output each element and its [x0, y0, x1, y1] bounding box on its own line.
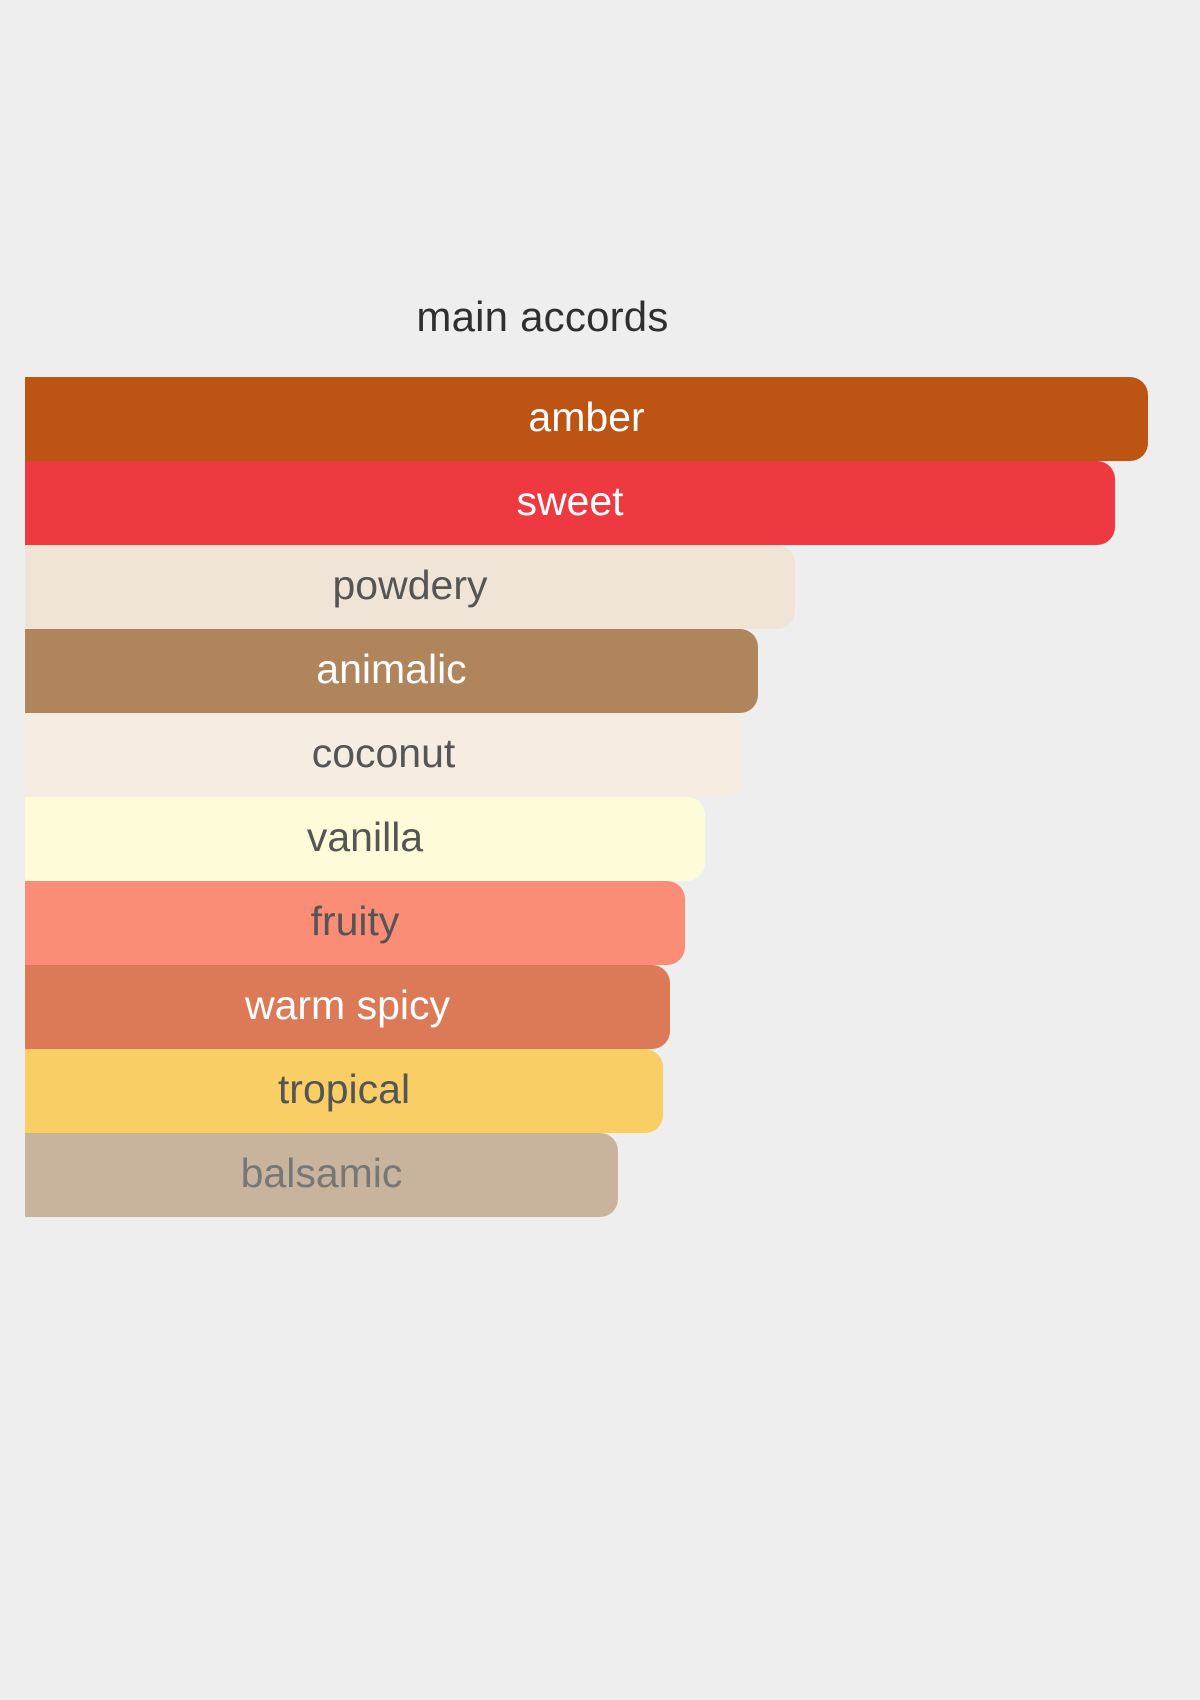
accord-row: warm spicy — [25, 965, 1185, 1049]
accord-label: amber — [528, 397, 644, 441]
accord-bar[interactable]: sweet — [25, 461, 1115, 545]
accord-bar[interactable]: powdery — [25, 545, 795, 629]
accord-label: tropical — [278, 1069, 410, 1113]
accord-label: vanilla — [307, 817, 423, 861]
accord-label: powdery — [333, 565, 488, 609]
accord-label: animalic — [316, 649, 466, 693]
accord-row: fruity — [25, 881, 1185, 965]
accord-bar[interactable]: tropical — [25, 1049, 663, 1133]
accord-label: fruity — [311, 901, 400, 945]
accord-bar[interactable]: animalic — [25, 629, 758, 713]
accord-row: animalic — [25, 629, 1185, 713]
accord-row: amber — [25, 377, 1185, 461]
main-accords-chart: main accords ambersweetpowderyanimalicco… — [0, 0, 1200, 1700]
accord-bar[interactable]: fruity — [25, 881, 685, 965]
accord-label: balsamic — [241, 1153, 403, 1197]
chart-title: main accords — [25, 296, 1060, 338]
accord-row: vanilla — [25, 797, 1185, 881]
accord-bar[interactable]: vanilla — [25, 797, 705, 881]
accord-label: coconut — [312, 733, 456, 777]
accord-bar[interactable]: balsamic — [25, 1133, 618, 1217]
accord-bar[interactable]: coconut — [25, 713, 742, 797]
accord-row: sweet — [25, 461, 1185, 545]
accord-row: tropical — [25, 1049, 1185, 1133]
accord-row: balsamic — [25, 1133, 1185, 1217]
accord-bar[interactable]: warm spicy — [25, 965, 670, 1049]
accord-bar[interactable]: amber — [25, 377, 1148, 461]
accord-row: coconut — [25, 713, 1185, 797]
accord-bar-list: ambersweetpowderyanimaliccoconutvanillaf… — [25, 377, 1185, 1217]
accord-row: powdery — [25, 545, 1185, 629]
accord-label: warm spicy — [245, 985, 450, 1029]
accord-label: sweet — [516, 481, 623, 525]
